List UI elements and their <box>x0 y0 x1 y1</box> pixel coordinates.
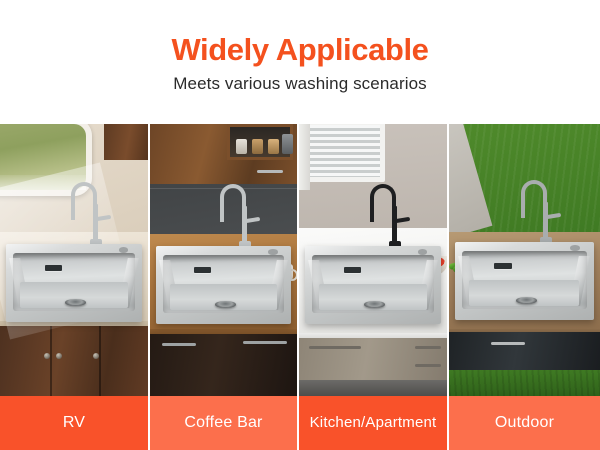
sink-tap-hole <box>570 245 580 250</box>
scene-coffee-bar <box>150 124 297 396</box>
coffee-machine-icon <box>282 134 293 154</box>
overflow-slot-icon <box>45 265 62 271</box>
cabinet-knob-icon <box>44 353 50 359</box>
drawer-pull-icon <box>243 341 287 344</box>
sink-basin <box>462 251 587 309</box>
jar-icon <box>268 139 279 154</box>
window-blinds-icon <box>299 124 385 182</box>
panel-label-line-2: Apartment <box>365 415 436 432</box>
scene-outdoor <box>449 124 600 396</box>
sink-basin <box>13 253 136 311</box>
faucet-matte-black-icon <box>368 184 410 246</box>
faucet-steel-icon <box>519 180 561 242</box>
scenario-panel-strip: RV <box>0 124 600 450</box>
scenario-panel-outdoor[interactable]: Outdoor <box>449 124 600 450</box>
sink-tap-hole <box>418 249 428 254</box>
jar-icon <box>252 139 263 154</box>
panel-label-coffee-bar: Coffee Bar <box>150 396 297 450</box>
page-title: Widely Applicable <box>171 34 428 67</box>
panel-label-kitchen-apartment: Kitchen/ Apartment <box>299 396 447 450</box>
scene-kitchen-apartment <box>299 124 447 396</box>
scenario-panel-kitchen-apartment[interactable]: Kitchen/ Apartment <box>299 124 449 450</box>
rv-lower-cabinets <box>0 326 148 396</box>
faucet-chrome-icon <box>218 184 260 246</box>
kitchen-lower-cabinets <box>299 338 447 396</box>
page-subtitle: Meets various washing scenarios <box>173 74 427 94</box>
jar-icon <box>236 139 247 154</box>
sink-assembly-outdoor <box>455 242 594 332</box>
sink-assembly-kitchen <box>305 246 441 336</box>
overflow-slot-icon <box>344 267 361 273</box>
kitchen-column <box>299 124 310 190</box>
sink-deck <box>305 246 441 324</box>
drawer-pull-icon <box>162 343 196 346</box>
sink-deck <box>455 242 594 320</box>
coffee-bar-upper-cabinets <box>150 124 297 184</box>
overflow-slot-icon <box>494 263 512 269</box>
kitchen-floor <box>299 380 447 396</box>
drawer-pull-icon <box>415 364 441 367</box>
sink-deck <box>156 246 291 324</box>
drawer-pull-icon <box>491 342 525 345</box>
overflow-slot-icon <box>194 267 211 273</box>
rv-upper-cabinet <box>104 124 148 160</box>
drawer-pull-icon <box>415 346 441 349</box>
drawer-pull-icon <box>309 346 361 349</box>
scenario-panel-rv[interactable]: RV <box>0 124 150 450</box>
sink-tap-hole <box>119 247 129 252</box>
sink-tap-hole <box>268 249 277 254</box>
panel-label-rv: RV <box>0 396 148 450</box>
coffee-bar-niche <box>227 124 293 160</box>
sink-assembly-coffee-bar <box>156 246 291 336</box>
panel-label-outdoor: Outdoor <box>449 396 600 450</box>
coffee-bar-lower-cabinets <box>150 334 297 396</box>
panel-label-line-1: Kitchen/ <box>310 415 366 432</box>
banner-header: Widely Applicable Meets various washing … <box>0 0 600 124</box>
scene-rv <box>0 124 148 396</box>
cabinet-knob-icon <box>56 353 62 359</box>
sink-assembly-rv <box>6 244 142 334</box>
product-banner: Widely Applicable Meets various washing … <box>0 0 600 450</box>
faucet-chrome-icon <box>69 182 111 244</box>
scenario-panel-coffee-bar[interactable]: Coffee Bar <box>150 124 299 450</box>
sink-basin <box>163 255 285 313</box>
sink-deck <box>6 244 142 322</box>
cabinet-knob-icon <box>93 353 99 359</box>
outdoor-lower-cabinets <box>449 332 600 372</box>
outdoor-foreground-grass <box>449 370 600 396</box>
drawer-pull-icon <box>257 170 283 173</box>
sink-basin <box>312 255 435 313</box>
